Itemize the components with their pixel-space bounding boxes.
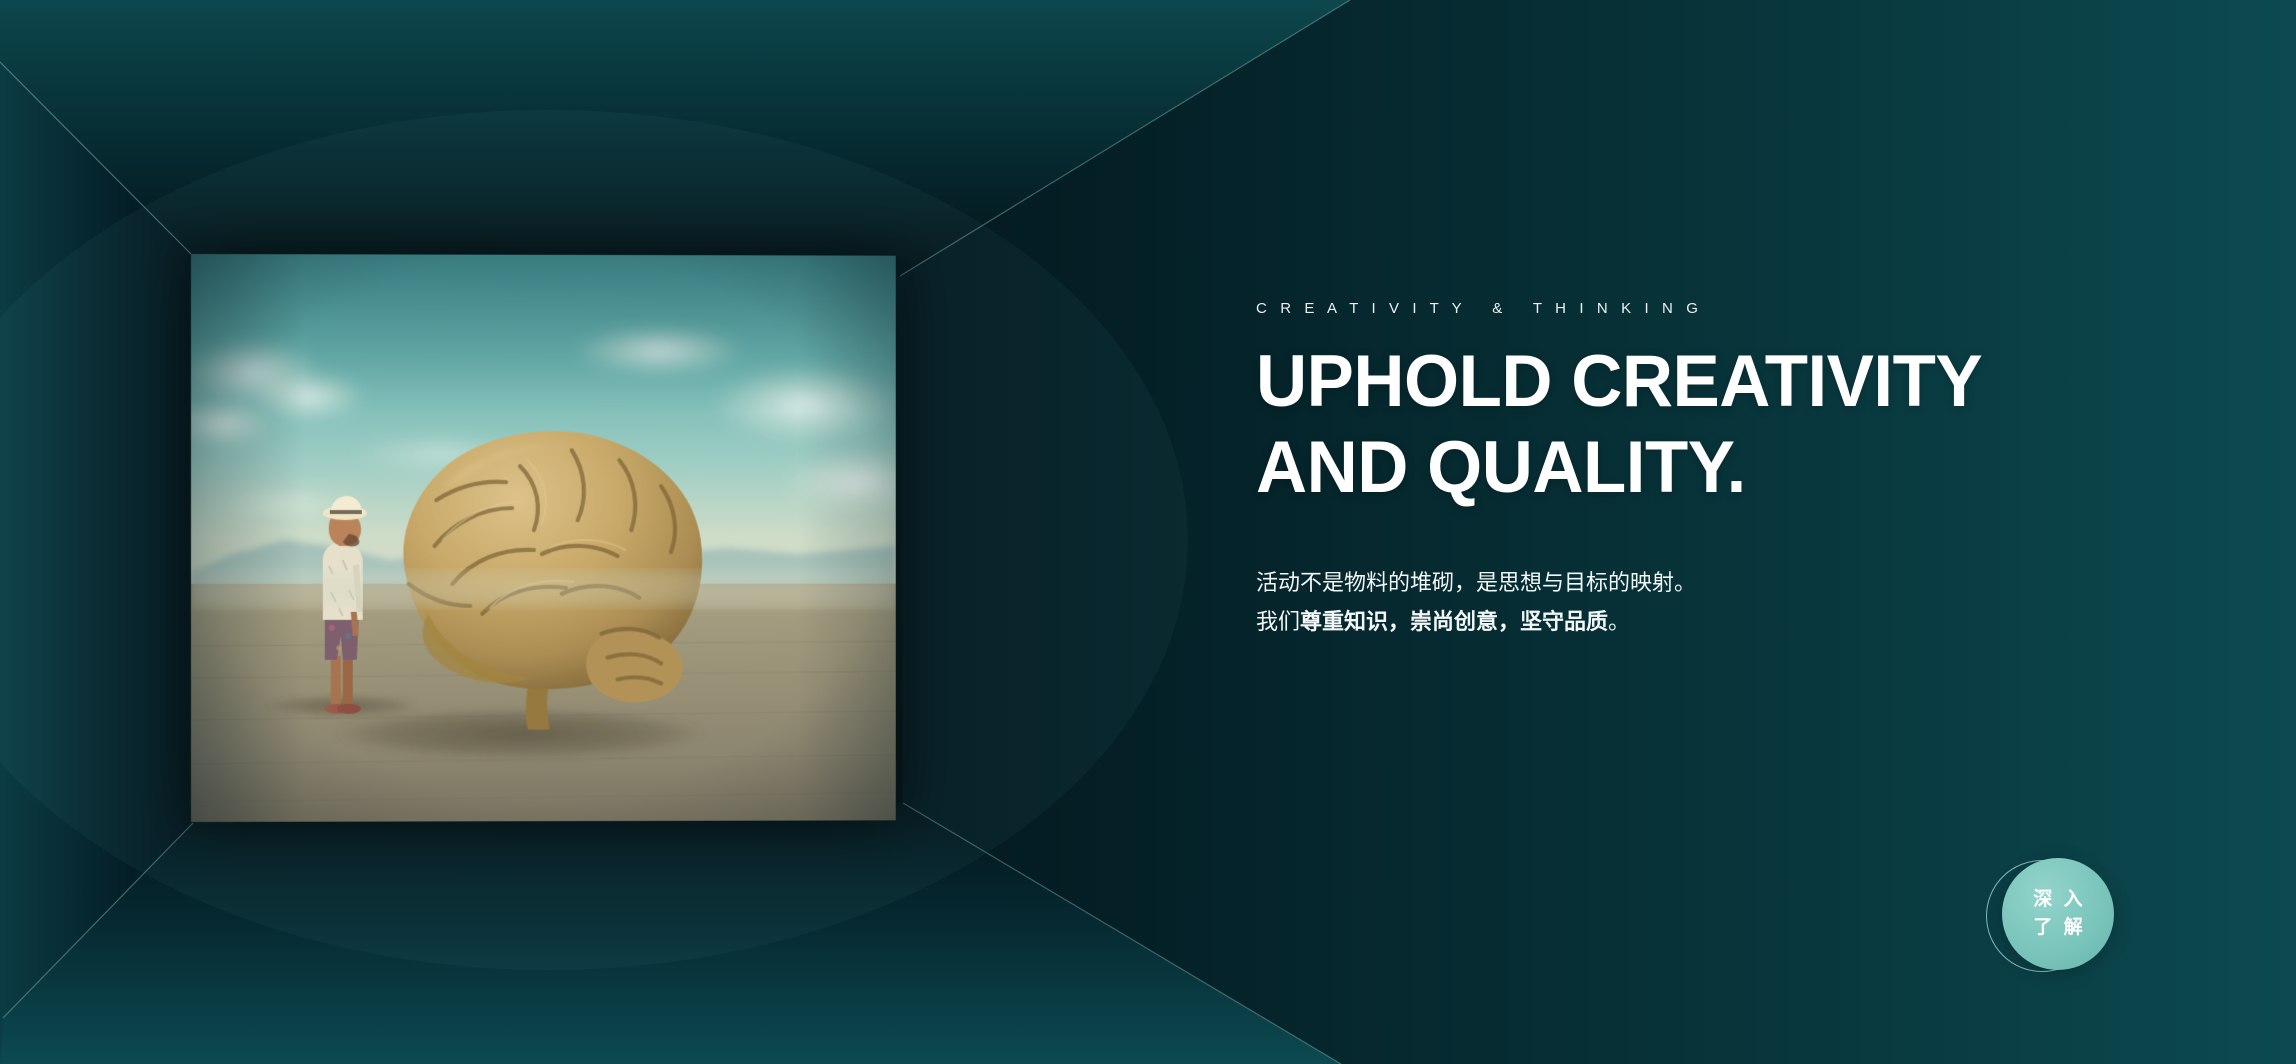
description-line-1: 活动不是物料的堆砌，是思想与目标的映射。 [1256,563,2076,602]
cta-label-line-1: 深 入 [2030,886,2085,914]
cta-label-line-2: 了 解 [2030,914,2085,942]
description-line-2: 我们尊重知识，崇尚创意，坚守品质。 [1256,602,2076,641]
photo-artwork [191,254,896,822]
description-prefix: 我们 [1256,609,1300,634]
description-emphasis: 尊重知识，崇尚创意，坚守品质 [1300,609,1608,634]
hero-content: C R E A T I V I T Y & T H I N K I N G UP… [1256,300,2076,642]
learn-more-cta[interactable]: 深 入 了 解 [2002,858,2122,978]
headline-line-1: UPHOLD CREATIVITY [1256,339,2051,425]
eyebrow-label: C R E A T I V I T Y & T H I N K I N G [1256,300,2076,317]
hero-description: 活动不是物料的堆砌，是思想与目标的映射。 我们尊重知识，崇尚创意，坚守品质。 [1256,563,2076,641]
brain-photograph [191,254,896,822]
description-suffix: 。 [1608,609,1630,634]
page-title: UPHOLD CREATIVITY AND QUALITY. [1256,339,2051,511]
hero-stage: C R E A T I V I T Y & T H I N K I N G UP… [0,0,2296,1064]
cta-button[interactable]: 深 入 了 解 [2002,858,2114,970]
headline-line-2: AND QUALITY. [1256,425,2051,511]
